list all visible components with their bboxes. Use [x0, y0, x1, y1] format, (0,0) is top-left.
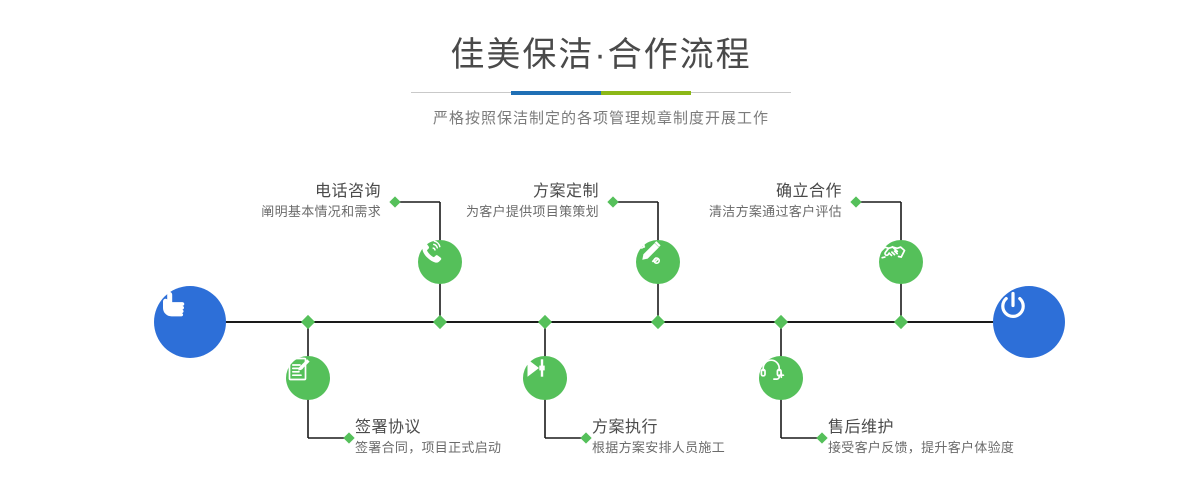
step-title: 售后维护 [828, 418, 1014, 438]
title-divider [411, 91, 791, 95]
flow-label-step-6: 售后维护 接受客户反馈，提升客户体验度 [828, 418, 1014, 457]
flow-end-node[interactable] [993, 286, 1065, 358]
flow-start-node[interactable] [154, 286, 226, 358]
flow-label-step-3: 方案定制 为客户提供项目策策划 [466, 182, 599, 221]
handshake-icon [879, 240, 907, 268]
flow-label-step-2: 签署协议 签署合同，项目正式启动 [355, 418, 501, 457]
flow-node-step-1[interactable] [418, 240, 462, 284]
flow-node-step-2[interactable] [286, 356, 330, 400]
play-forward-icon [523, 356, 547, 380]
power-icon [993, 286, 1033, 326]
flow-node-step-4[interactable] [523, 356, 567, 400]
page-header: 佳美保洁·合作流程 严格按照保洁制定的各项管理规章制度开展工作 [0, 0, 1202, 128]
divider-segment-blue [511, 91, 601, 95]
step-desc: 阐明基本情况和需求 [261, 202, 381, 221]
page-subtitle: 严格按照保洁制定的各项管理规章制度开展工作 [0, 95, 1202, 128]
step-title: 方案定制 [466, 182, 599, 202]
step-desc: 为客户提供项目策策划 [466, 202, 599, 221]
process-flow-diagram: 电话咨询 阐明基本情况和需求 方案定制 为客户提供项目策策划 确立合作 清洁方案… [0, 150, 1202, 502]
step-desc: 接受客户反馈，提升客户体验度 [828, 438, 1014, 457]
step-title: 签署协议 [355, 418, 501, 438]
step-desc: 签署合同，项目正式启动 [355, 438, 501, 457]
pointing-hand-icon [154, 286, 194, 326]
headset-support-icon [759, 356, 785, 382]
step-desc: 根据方案安排人员施工 [592, 438, 725, 457]
flow-node-step-5[interactable] [879, 240, 923, 284]
step-title: 方案执行 [592, 418, 725, 438]
pencil-ruler-icon [636, 240, 662, 266]
step-desc: 清洁方案通过客户评估 [709, 202, 842, 221]
flow-label-step-4: 方案执行 根据方案安排人员施工 [592, 418, 725, 457]
page-title: 佳美保洁·合作流程 [0, 0, 1202, 77]
document-edit-icon [286, 356, 312, 382]
step-title: 确立合作 [709, 182, 842, 202]
phone-call-icon [418, 240, 444, 266]
flow-node-step-3[interactable] [636, 240, 680, 284]
divider-segment-green [601, 91, 691, 95]
step-title: 电话咨询 [261, 182, 381, 202]
flow-label-step-1: 电话咨询 阐明基本情况和需求 [261, 182, 381, 221]
flow-label-step-5: 确立合作 清洁方案通过客户评估 [709, 182, 842, 221]
flow-node-step-6[interactable] [759, 356, 803, 400]
